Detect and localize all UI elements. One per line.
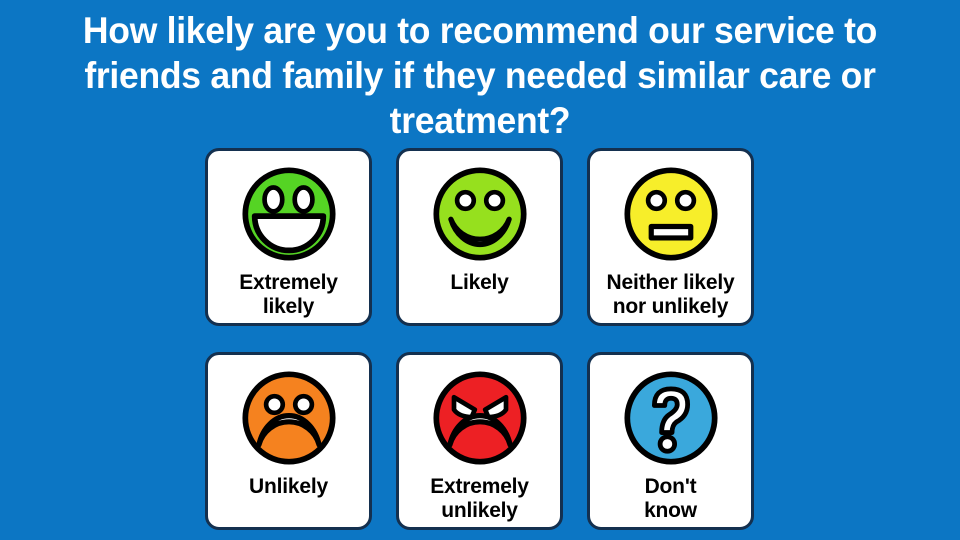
- option-label: Unlikely: [246, 475, 331, 499]
- option-label: Don't know: [641, 475, 700, 523]
- option-card-extremely-unlikely[interactable]: Extremely unlikely: [396, 352, 563, 530]
- neutral-face-icon: [619, 162, 723, 266]
- option-label: Neither likely nor unlikely: [604, 271, 738, 319]
- angry-face-icon: [428, 366, 532, 470]
- friends-and-family-test-slide: How likely are you to recommend our serv…: [0, 0, 960, 540]
- smiling-face-icon: [428, 162, 532, 266]
- option-label: Extremely unlikely: [427, 475, 532, 523]
- frowning-face-icon: [237, 366, 341, 470]
- option-card-extremely-likely[interactable]: Extremely likely: [205, 148, 372, 326]
- option-label: Extremely likely: [236, 271, 341, 319]
- response-options-grid: Extremely likely Likely: [205, 148, 757, 530]
- question-mark-icon: [619, 366, 723, 470]
- option-card-unlikely[interactable]: Unlikely: [205, 352, 372, 530]
- option-card-neither-likely-nor-unlikely[interactable]: Neither likely nor unlikely: [587, 148, 754, 326]
- option-card-dont-know[interactable]: Don't know: [587, 352, 754, 530]
- option-label: Likely: [447, 271, 511, 295]
- option-card-likely[interactable]: Likely: [396, 148, 563, 326]
- page-title: How likely are you to recommend our serv…: [67, 8, 893, 143]
- grinning-face-icon: [237, 162, 341, 266]
